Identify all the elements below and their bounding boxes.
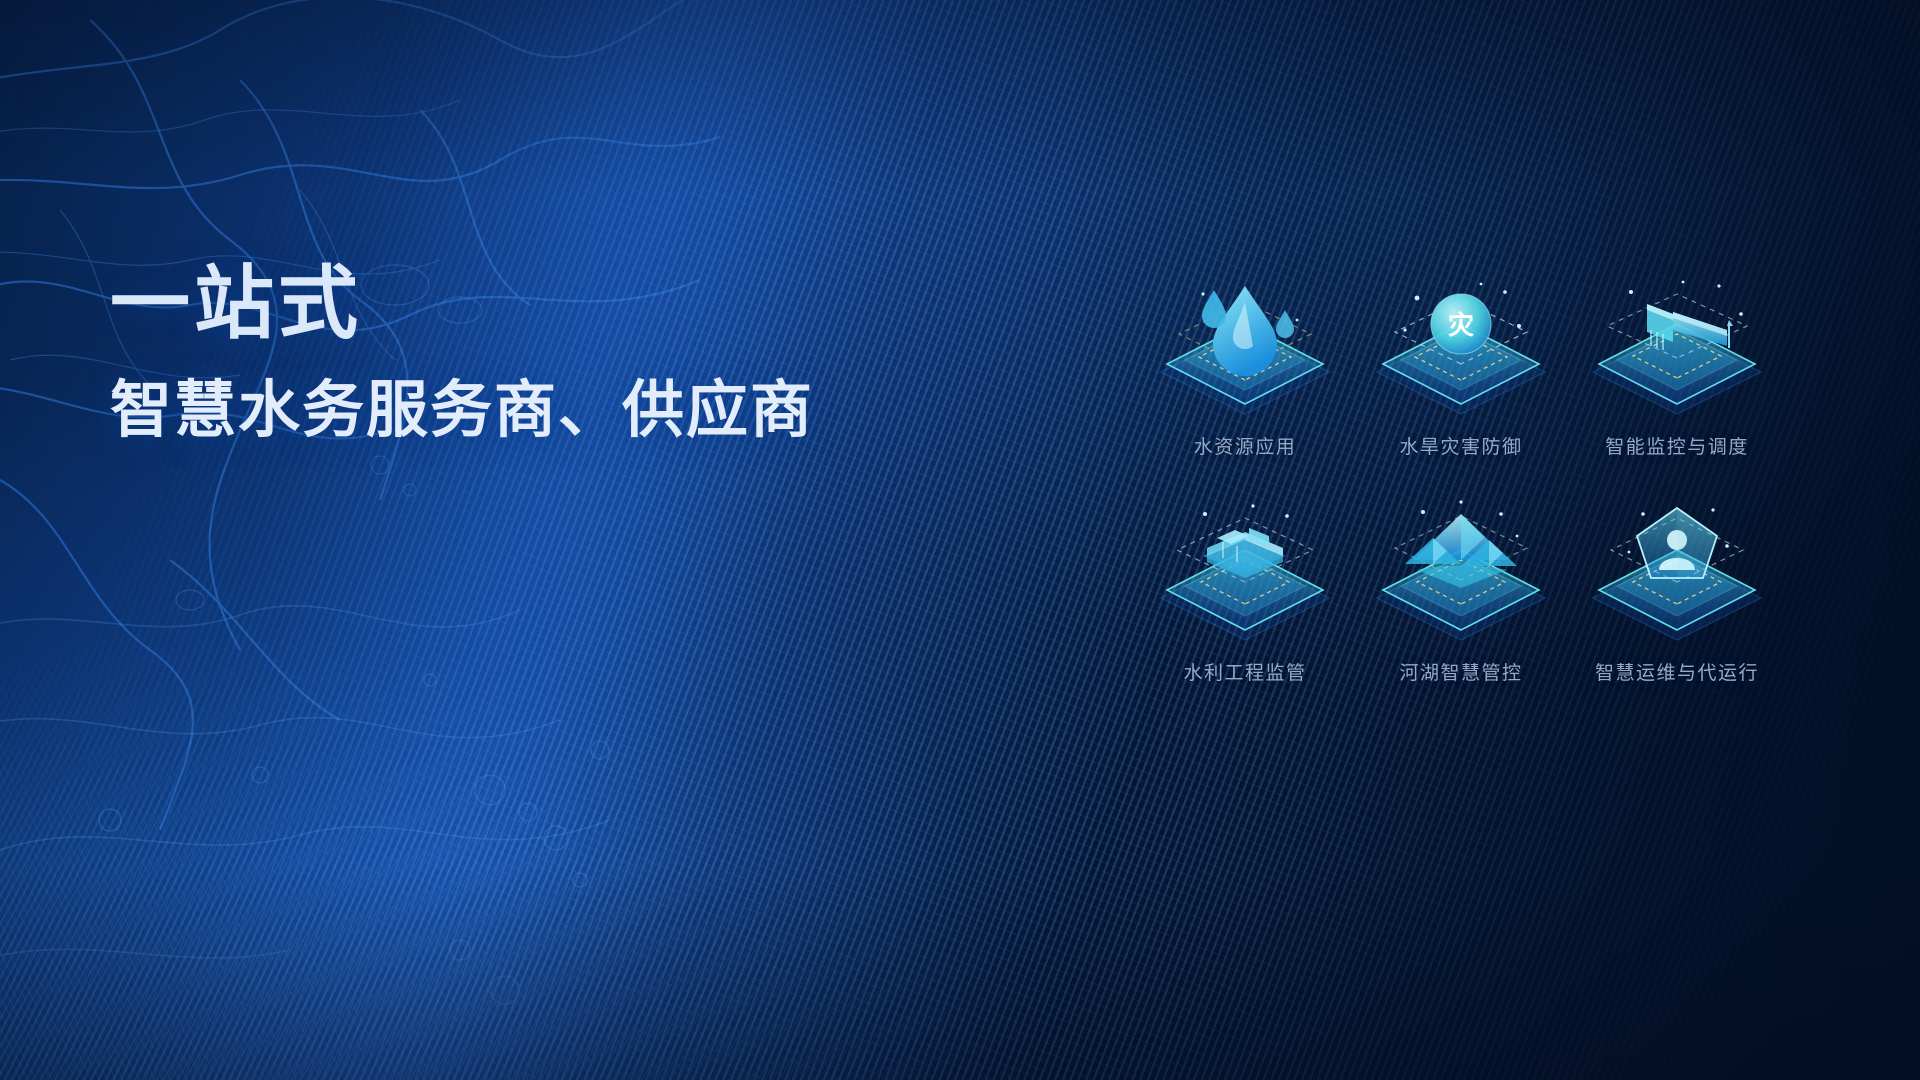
capability-label: 智能监控与调度 xyxy=(1605,432,1749,459)
shield-operator-icon xyxy=(1577,494,1777,652)
page-subtitle: 智慧水务服务商、供应商 xyxy=(110,376,814,445)
dam-monitor-icon xyxy=(1577,268,1777,426)
headline-block: 一站式 智慧水务服务商、供应商 xyxy=(110,262,814,445)
capability-label: 水资源应用 xyxy=(1194,432,1297,459)
capability-item-flood-drought[interactable]: 灾 水旱灾害防御 xyxy=(1356,268,1566,492)
water-bubbles-icon xyxy=(0,520,680,1080)
capability-label: 水利工程监管 xyxy=(1183,658,1306,685)
capability-label: 水旱灾害防御 xyxy=(1399,432,1522,459)
capability-grid: 水资源应用 xyxy=(1140,268,1782,718)
disaster-sphere-icon: 灾 xyxy=(1361,268,1561,426)
capability-item-smart-monitoring[interactable]: 智能监控与调度 xyxy=(1572,268,1782,492)
river-mountain-icon xyxy=(1361,494,1561,652)
capability-item-hydraulic-supervision[interactable]: 水利工程监管 xyxy=(1140,494,1350,718)
water-drop-icon xyxy=(1145,268,1345,426)
page-title: 一站式 xyxy=(110,262,814,346)
capability-item-river-lake[interactable]: 河湖智慧管控 xyxy=(1356,494,1566,718)
capability-item-water-resource[interactable]: 水资源应用 xyxy=(1140,268,1350,492)
slide-canvas: 一站式 智慧水务服务商、供应商 xyxy=(0,0,1920,1080)
capability-item-smart-operation[interactable]: 智慧运维与代运行 xyxy=(1572,494,1782,718)
capability-label: 河湖智慧管控 xyxy=(1399,658,1522,685)
disaster-glyph: 灾 xyxy=(1448,310,1474,340)
capability-label: 智慧运维与代运行 xyxy=(1595,658,1759,685)
hydraulic-structure-icon xyxy=(1145,494,1345,652)
